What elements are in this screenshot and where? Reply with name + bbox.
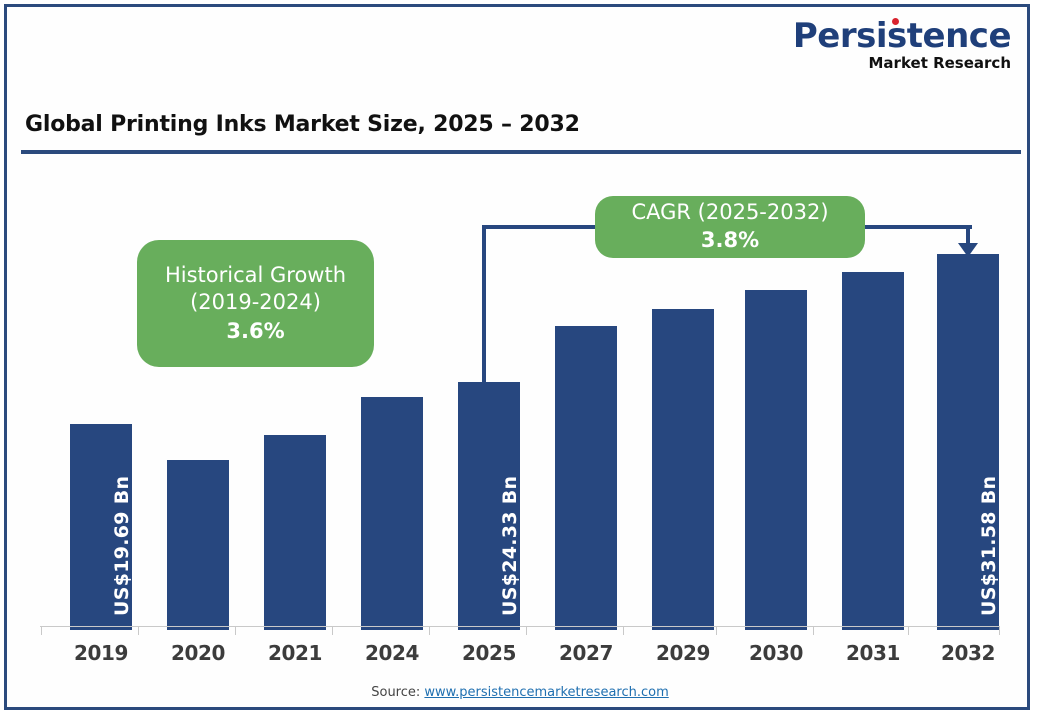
x-axis-tick xyxy=(999,626,1000,635)
x-axis-tick xyxy=(235,626,236,635)
chart-frame: Persistence Market Research Global Print… xyxy=(4,4,1030,710)
bar-2031 xyxy=(842,272,904,630)
x-axis-tick xyxy=(623,626,624,635)
x-axis-label-2020: 2020 xyxy=(158,641,238,665)
bar-2021 xyxy=(264,435,326,630)
x-axis-label-2025: 2025 xyxy=(449,641,529,665)
x-axis-label-2021: 2021 xyxy=(255,641,335,665)
x-axis-label-2031: 2031 xyxy=(833,641,913,665)
bar-chart-plot-area: US$19.69 BnUS$24.33 BnUS$31.58 Bn 201920… xyxy=(7,7,1033,713)
x-axis-label-2024: 2024 xyxy=(352,641,432,665)
cagr-connector-vertical-start xyxy=(482,225,486,383)
x-axis-label-2032: 2032 xyxy=(928,641,1008,665)
x-axis-tick xyxy=(429,626,430,635)
bar-value-label-2019: US$19.69 Bn xyxy=(111,476,133,616)
source-line: Source: www.persistencemarketresearch.co… xyxy=(7,685,1033,700)
historical-growth-callout: Historical Growth (2019-2024) 3.6% xyxy=(137,240,374,367)
x-axis-label-2027: 2027 xyxy=(546,641,626,665)
x-axis-tick xyxy=(813,626,814,635)
cagr-line1: CAGR (2025-2032) xyxy=(631,199,828,226)
bar-2027 xyxy=(555,326,617,630)
cagr-callout: CAGR (2025-2032) 3.8% xyxy=(595,196,865,258)
x-axis-tick xyxy=(716,626,717,635)
x-axis-tick xyxy=(41,626,42,635)
historical-growth-value: 3.6% xyxy=(226,317,284,345)
x-axis-label-2029: 2029 xyxy=(643,641,723,665)
bar-2030 xyxy=(745,290,807,630)
x-axis-line xyxy=(40,626,1000,627)
cagr-value: 3.8% xyxy=(701,226,759,254)
bar-2029 xyxy=(652,309,714,630)
source-url-link[interactable]: www.persistencemarketresearch.com xyxy=(424,685,668,700)
historical-growth-line2: (2019-2024) xyxy=(190,289,321,316)
x-axis-tick xyxy=(138,626,139,635)
x-axis-tick xyxy=(526,626,527,635)
source-prefix: Source: xyxy=(371,685,424,700)
historical-growth-line1: Historical Growth xyxy=(165,262,346,289)
x-axis-label-2030: 2030 xyxy=(736,641,816,665)
bar-value-label-2025: US$24.33 Bn xyxy=(499,476,521,616)
bar-2024 xyxy=(361,397,423,630)
bar-value-label-2032: US$31.58 Bn xyxy=(978,476,1000,616)
x-axis-tick xyxy=(332,626,333,635)
x-axis-tick xyxy=(908,626,909,635)
x-axis-label-2019: 2019 xyxy=(61,641,141,665)
bar-2020 xyxy=(167,460,229,630)
